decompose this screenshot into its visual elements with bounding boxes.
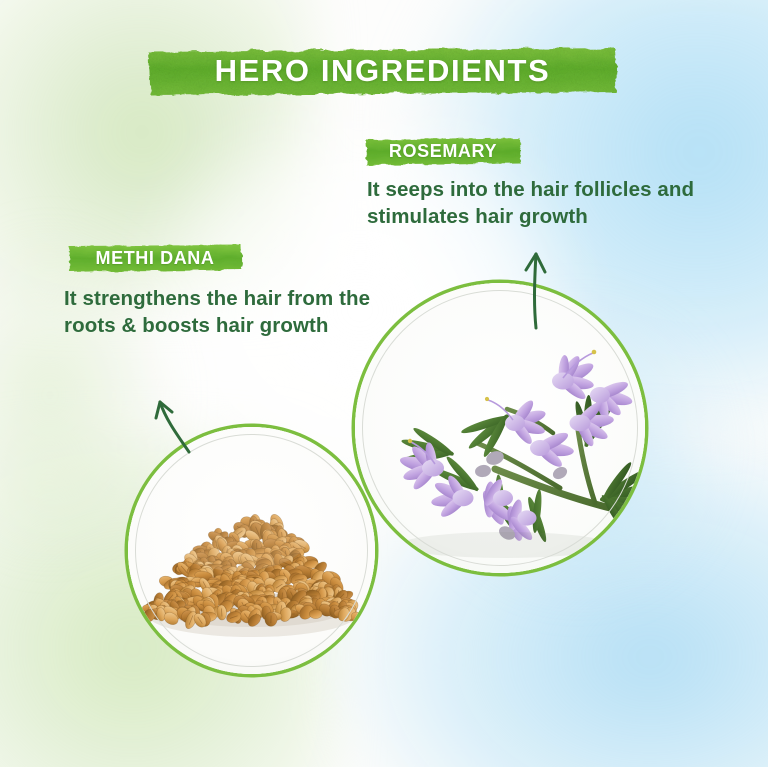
methi-dana-description: It strengthens the hair from the roots &…: [64, 285, 384, 340]
methi-dana-label-text: METHI DANA: [66, 243, 244, 273]
rosemary-label-badge: ROSEMARY: [363, 136, 523, 166]
fenugreek-seeds-illustration: [128, 427, 375, 674]
rosemary-arrow-icon: [492, 236, 572, 336]
methi-dana-arrow-icon: [132, 352, 242, 462]
page-title: HERO INGREDIENTS: [145, 43, 620, 98]
page-title-banner: HERO INGREDIENTS: [145, 43, 620, 98]
methi-dana-label-badge: METHI DANA: [66, 243, 244, 273]
methi-dana-photo-circle: [128, 427, 375, 674]
rosemary-label-text: ROSEMARY: [363, 136, 523, 166]
methi-dana-photo: [128, 427, 375, 674]
rosemary-description: It seeps into the hair follicles and sti…: [367, 176, 697, 231]
infographic-canvas: HERO INGREDIENTS: [0, 0, 768, 767]
